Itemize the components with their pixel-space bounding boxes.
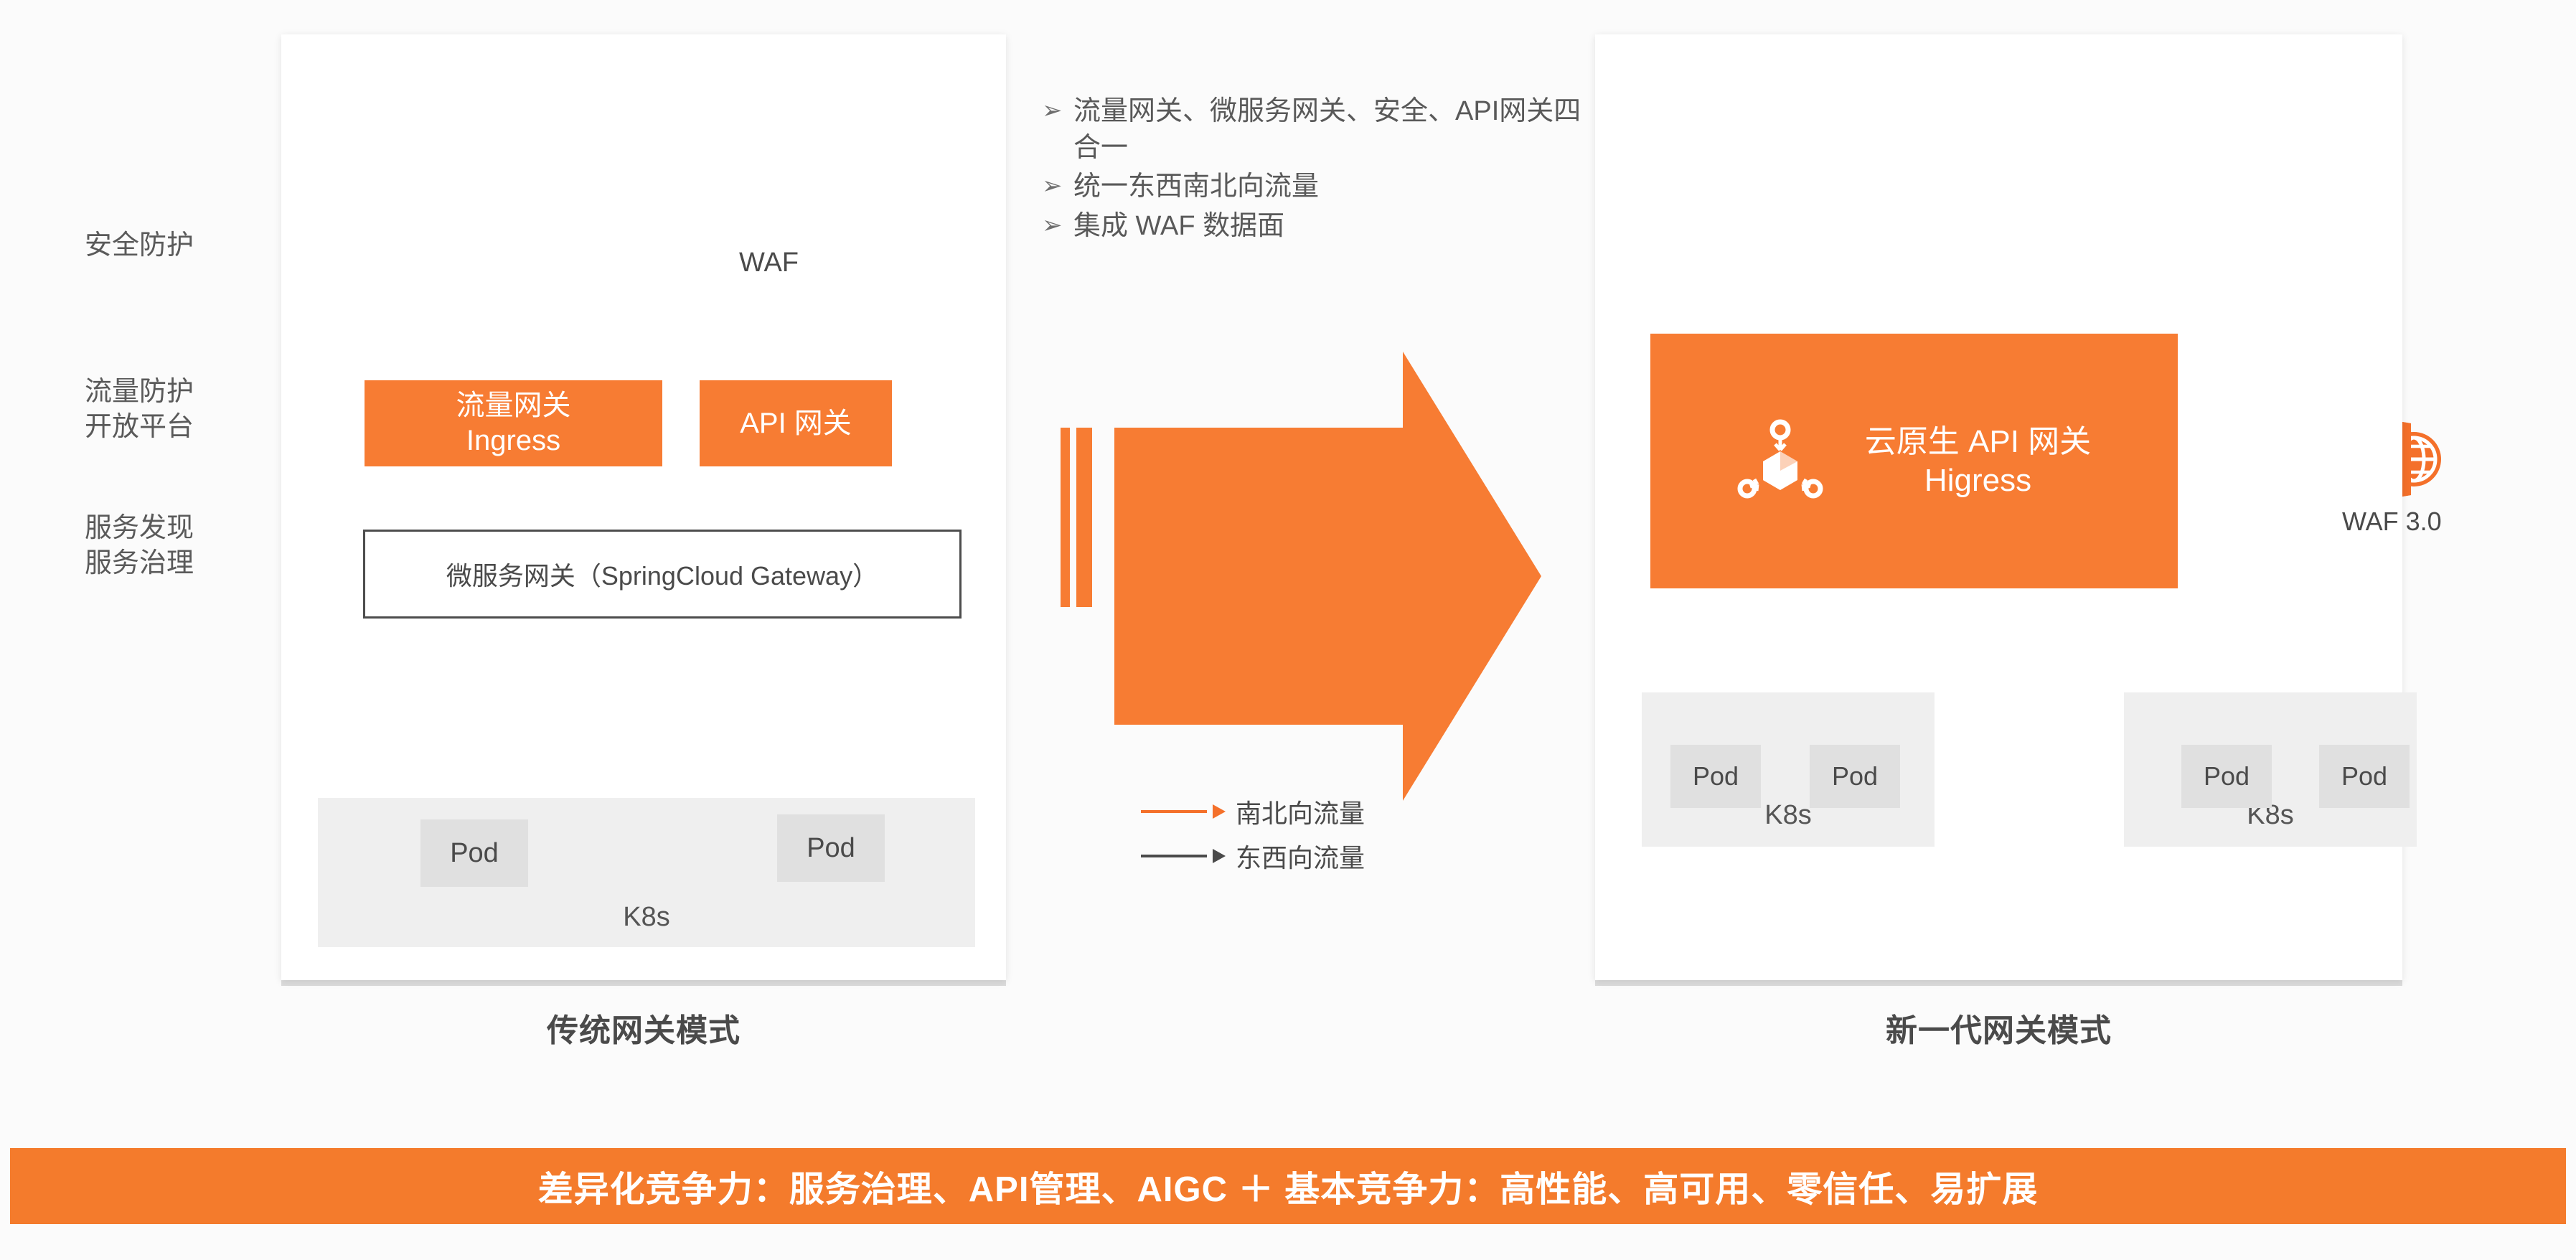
cloud-native-gateway-box[interactable]: 云原生 API 网关 Higress [1650,334,2178,588]
banner-text: 差异化竞争力：服务治理、API管理、AIGC ＋ 基本竞争力：高性能、高可用、零… [538,1161,2038,1212]
pod-right-1[interactable]: Pod [1670,745,1761,808]
waf-label-right: WAF 3.0 [2342,507,2442,537]
legend-item-east-west: 东西向流量 [1141,834,1365,878]
row-label-traffic: 流量防护 开放平台 [85,375,194,444]
traffic-gateway-box[interactable]: 流量网关 Ingress [365,380,662,466]
legend-label: 南北向流量 [1236,793,1365,830]
cloud-native-node-icon [1737,418,1823,504]
pod-label: Pod [450,838,499,869]
waf-label-left: WAF [739,248,799,278]
pod-label: Pod [1693,761,1739,791]
legacy-panel-caption: 传统网关模式 [281,1005,1006,1050]
east-west-arrow-icon [1141,847,1226,865]
api-gateway-label: API 网关 [740,406,852,441]
pod-right-4[interactable]: Pod [2319,745,2410,808]
api-gateway-box[interactable]: API 网关 [700,380,892,466]
pod-left-1[interactable]: Pod [420,819,528,887]
pod-label: Pod [1832,761,1878,791]
benefits-list: ➢ 流量网关、微服务网关、安全、API网关四合一 ➢ 统一东西南北向流量 ➢ 集… [1042,93,1587,247]
traffic-gateway-line1: 流量网关 [456,388,571,423]
row-label-service: 服务发现 服务治理 [85,511,194,580]
gateway-line1: 云原生 API 网关 [1865,423,2091,461]
legend-item-north-south: 南北向流量 [1141,789,1365,834]
bullet-text: 集成 WAF 数据面 [1073,208,1587,245]
pod-left-2[interactable]: Pod [777,814,885,882]
list-item: ➢ 集成 WAF 数据面 [1042,208,1587,245]
next-gen-panel-caption: 新一代网关模式 [1595,1005,2402,1050]
k8s-label: K8s [1764,800,1811,831]
microservice-gateway-label: 微服务网关（SpringCloud Gateway） [446,555,878,593]
pod-label: Pod [2341,761,2387,791]
traffic-gateway-line2: Ingress [466,423,560,459]
list-item: ➢ 统一东西南北向流量 [1042,169,1587,205]
legend-label: 东西向流量 [1236,837,1365,875]
bullet-text: 流量网关、微服务网关、安全、API网关四合一 [1073,93,1587,166]
bullet-marker-icon: ➢ [1042,208,1073,243]
k8s-label: K8s [623,902,669,933]
pod-label: Pod [2204,761,2250,791]
bottom-banner: 差异化竞争力：服务治理、API管理、AIGC ＋ 基本竞争力：高性能、高可用、零… [10,1148,2566,1224]
diagram-stage: 安全防护 流量防护 开放平台 服务发现 服务治理 流量网关 Ingress AP… [0,0,2576,1260]
microservice-gateway-box[interactable]: 微服务网关（SpringCloud Gateway） [363,530,962,619]
flow-legend: 南北向流量 东西向流量 [1141,789,1365,878]
gateway-line2: Higress [1924,461,2031,500]
transition-arrow [1061,352,1541,801]
list-item: ➢ 流量网关、微服务网关、安全、API网关四合一 [1042,93,1587,166]
pod-label: Pod [807,833,855,864]
bullet-marker-icon: ➢ [1042,93,1073,128]
north-south-arrow-icon [1141,803,1226,820]
pod-right-3[interactable]: Pod [2181,745,2272,808]
bullet-marker-icon: ➢ [1042,169,1073,203]
pod-right-2[interactable]: Pod [1810,745,1900,808]
row-label-security: 安全防护 [85,228,194,263]
bullet-text: 统一东西南北向流量 [1073,169,1587,205]
